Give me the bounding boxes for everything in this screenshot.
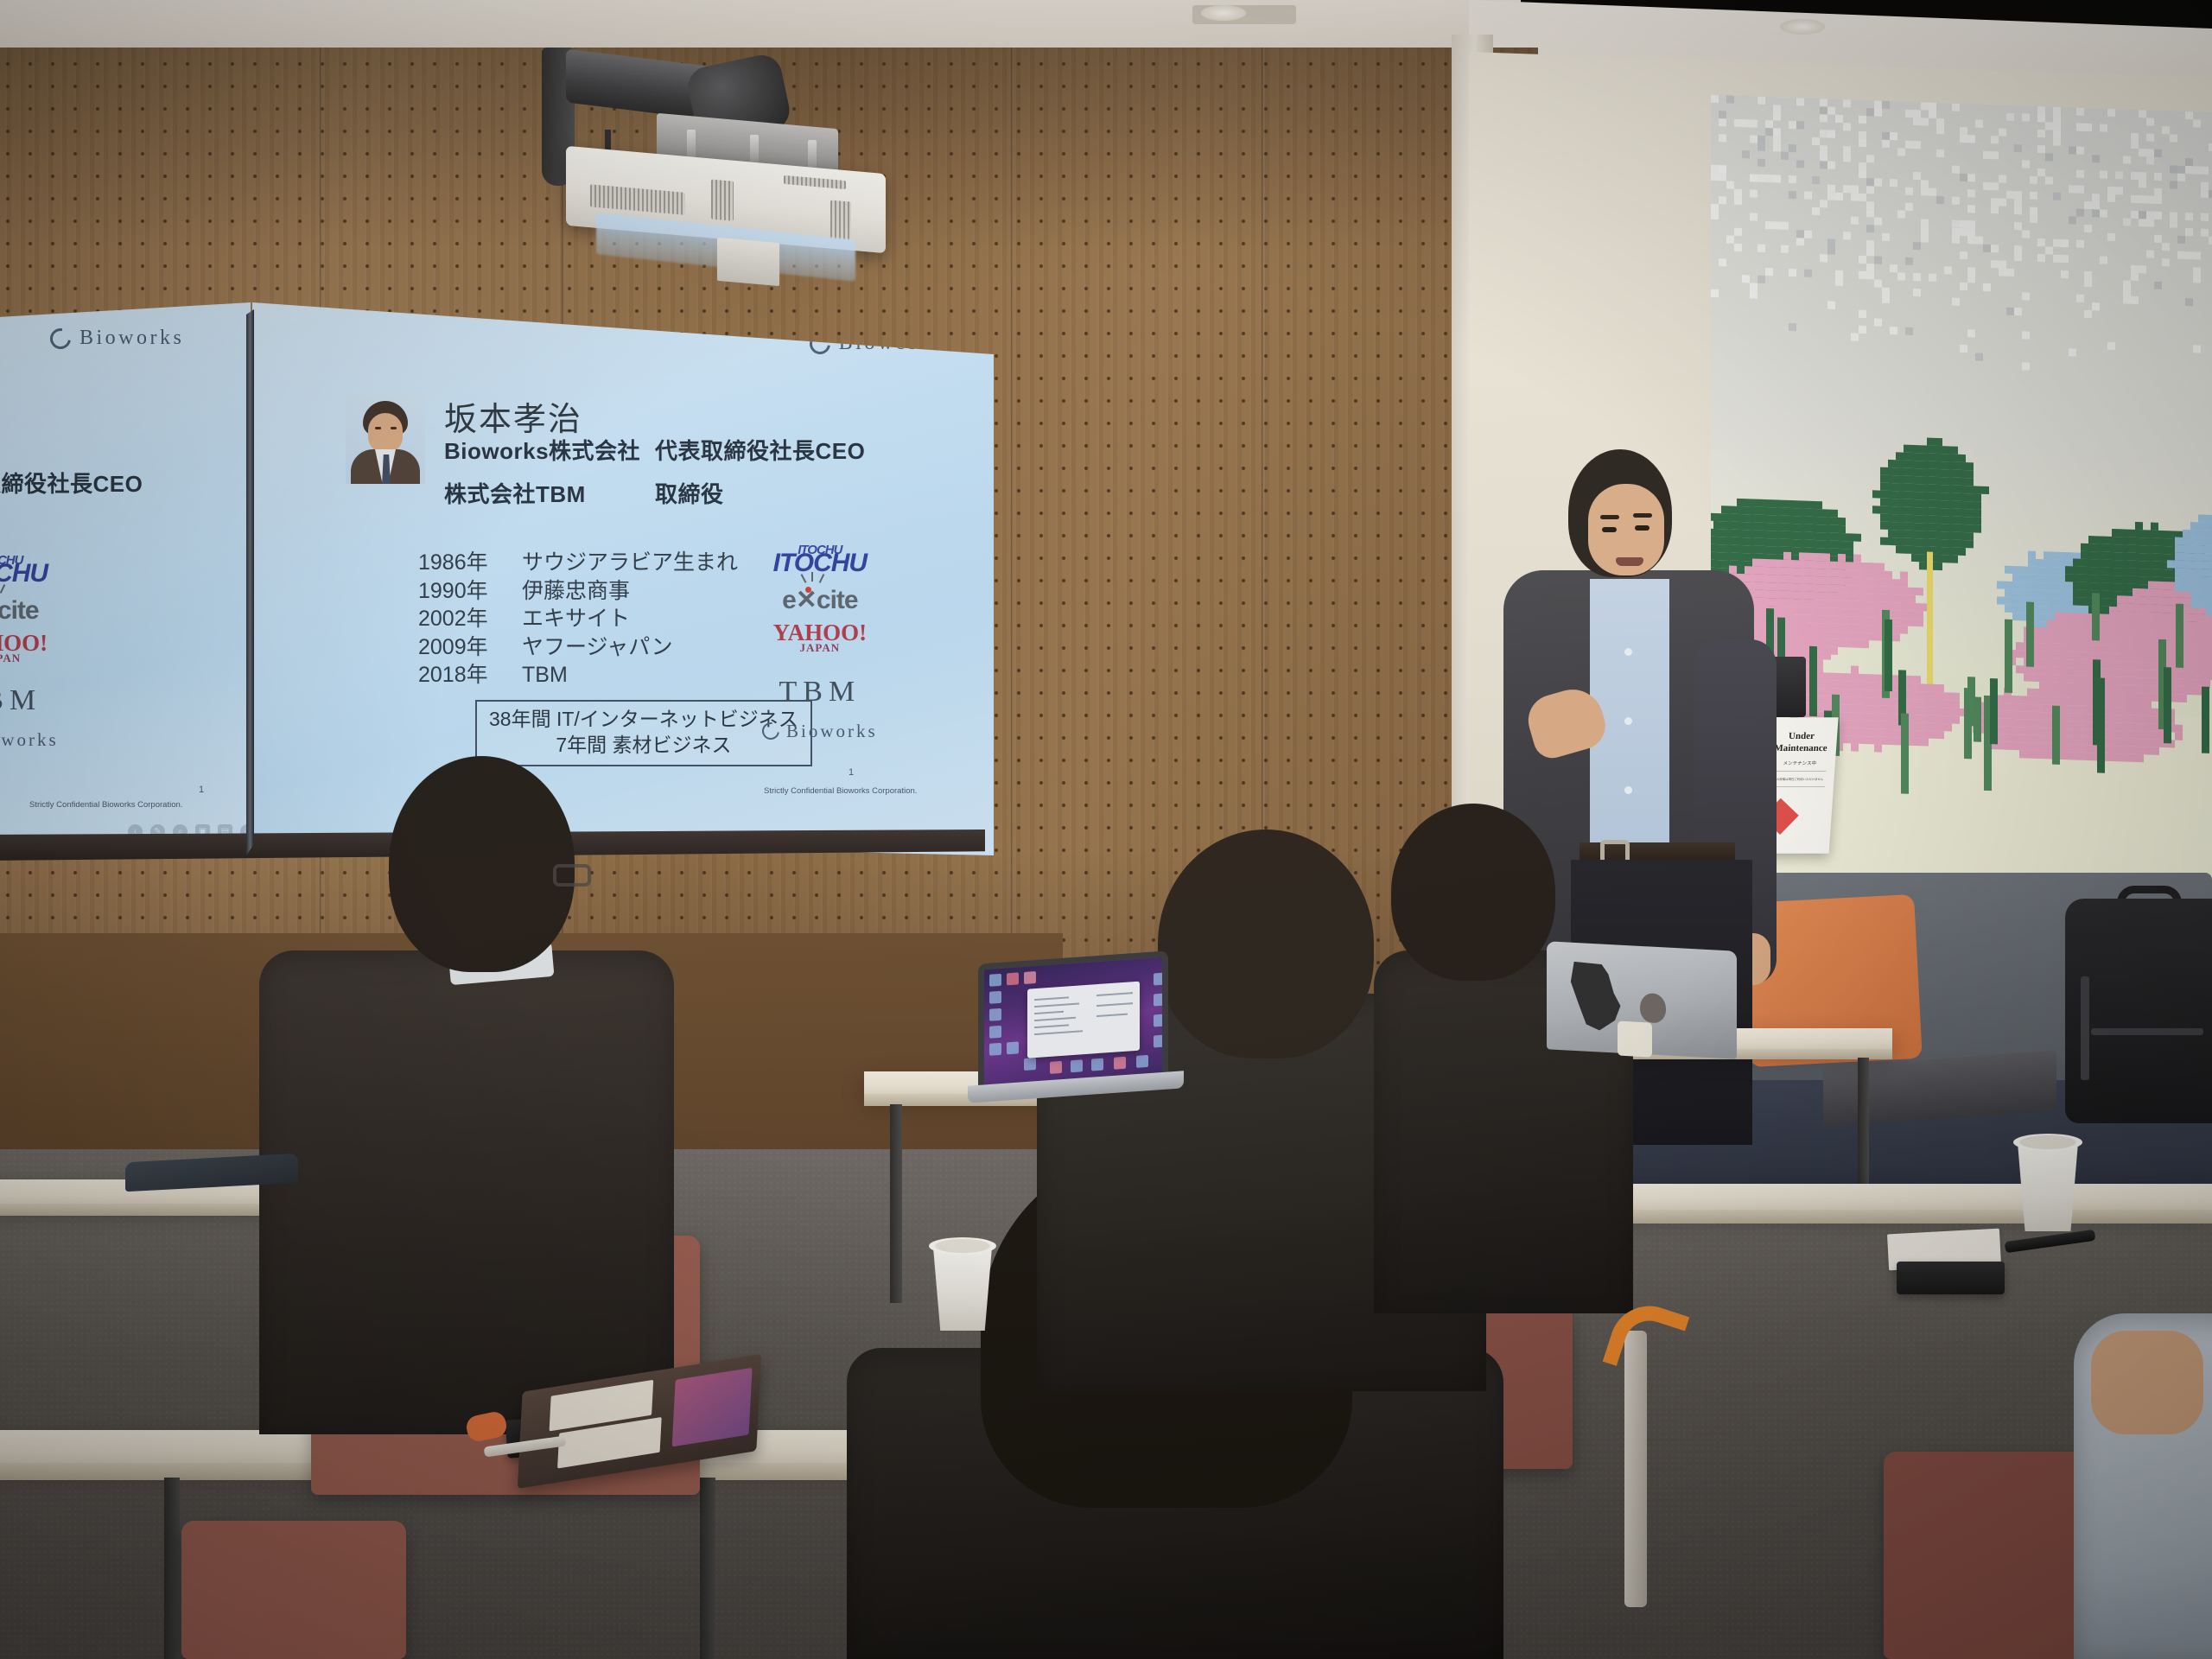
speaker-headshot [346,394,425,484]
timeline-event: ヤフージャパン [522,633,673,662]
bioworks-wordmark: Bioworks [786,721,878,742]
excite-logo: e✕cite [782,585,858,615]
timeline-row: 2018年 TBM [418,661,738,690]
bioworks-crescent-icon [759,719,783,743]
itochu-logo: ITOCHU ITOCHU [0,553,48,588]
macbook-closed-right[interactable] [1547,941,1737,1059]
logo-column-main: ITOCHU ITOCHU e✕cite YAHOO! JAPAN T [762,543,878,742]
slide-page-number-left: 1 [199,785,204,795]
presenter-mouth [1616,557,1643,566]
summary-line-1: 7年間 素材ビジネス [489,732,798,758]
eyeglasses-icon [553,864,591,887]
timeline-year: 2009年 [418,633,522,662]
projector-foot [717,238,779,286]
affiliation-org-0: Bioworks株式会社 [444,434,640,466]
maintenance-body: この設備は現在ご利用いただけません [1770,778,1827,782]
chair-front-left [181,1521,406,1659]
ceiling-light [1201,5,1246,21]
bioworks-logo: Bioworks [810,332,944,355]
bioworks-crescent-icon [46,324,74,353]
timeline-event: TBM [522,661,568,690]
bioworks-crescent-icon [805,329,834,358]
audience-hand [2091,1331,2203,1434]
timeline-event: 伊藤忠商事 [522,577,630,606]
timeline-year: 1990年 [418,577,522,606]
speaker-name: 坂本孝治 [444,392,582,440]
laptop-screen[interactable] [978,950,1168,1091]
role-ceo-partial: 代表取締役社長CEO [0,467,143,499]
timeline-event: サウジアラビア生まれ [522,549,738,577]
audience-head [389,756,575,972]
timeline-year: 2018年 [418,661,522,690]
paper-cup-rim [929,1237,996,1255]
california-sticker [1567,961,1623,1031]
timeline-event: エキサイト [522,605,630,633]
affiliation-org-1: 株式会社TBM [444,477,586,509]
tbm-logo: TBM [0,684,41,717]
apple-logo-icon [1640,993,1666,1024]
timeline-year: 1986年 [418,549,522,577]
timeline-year: 2002年 [418,605,522,633]
maintenance-title: Under Maintenance [1771,731,1830,754]
ceiling-light [1780,19,1825,35]
projector-bolt [687,130,696,159]
yahoo-japan-logo: YAHOO! JAPAN [0,632,48,665]
square-badge-sticker [1618,1021,1652,1058]
backpack [2065,899,2212,1123]
bioworks-wordmark: Bioworks [839,332,944,355]
projection-screen-main: Bioworks 坂本孝治 Bioworks株式会社 代表取締役社長CEO 株式… [252,302,994,855]
itochu-logo: ITOCHU ITOCHU [773,543,867,578]
timeline-row: 1986年 サウジアラビア生まれ [418,549,738,577]
screen-bezel [246,302,254,855]
bioworks-logo-small: Bioworks [0,729,59,751]
slide-footer-left: Strictly Confidential Bioworks Corporati… [29,800,182,810]
projector-bolt [808,140,817,169]
slide-main: Bioworks 坂本孝治 Bioworks株式会社 代表取締役社長CEO 株式… [252,302,994,855]
bioworks-wordmark: Bioworks [0,729,59,751]
maintenance-subtitle: メンテナンス中 [1770,760,1828,766]
projector-bolt [750,135,759,164]
black-notebook[interactable] [1897,1262,2005,1294]
paper-cup-rim [2013,1134,2082,1151]
affiliation-role-0: 代表取締役社長CEO [655,434,865,466]
audience-suit [259,950,674,1434]
bioworks-logo: Bioworks [50,327,184,350]
excite-logo: e✕cite [0,595,39,626]
bioworks-logo-small: Bioworks [762,721,878,742]
timeline-row: 2009年 ヤフージャパン [418,633,738,662]
slide-footer: Strictly Confidential Bioworks Corporati… [764,786,917,796]
timeline-row: 1990年 伊藤忠商事 [418,577,738,606]
slide-left-partial: Bioworks 代表取締役社長CEO ITOCHU ITOCHU e✕cite [0,302,251,855]
career-timeline: 1986年 サウジアラビア生まれ 1990年 伊藤忠商事 2002年 エキサイト… [418,549,738,690]
bioworks-wordmark: Bioworks [79,327,184,350]
slide-page-number: 1 [849,767,854,778]
tbm-logo: TBM [779,676,861,709]
audience-head [1158,829,1374,1058]
projection-screen-left: Bioworks 代表取締役社長CEO ITOCHU ITOCHU e✕cite [0,302,251,855]
summary-line-0: 38年間 IT/インターネットビジネス [489,706,798,732]
yahoo-japan-logo: YAHOO! JAPAN [773,622,868,655]
timeline-row: 2002年 エキサイト [418,605,738,633]
presentation-room-photo: Bioworks 代表取締役社長CEO ITOCHU ITOCHU e✕cite [0,0,2212,1659]
audience-head [1391,804,1555,981]
affiliation-role-1: 取締役 [655,477,724,509]
document-window[interactable] [1027,982,1140,1058]
logo-column-left: ITOCHU ITOCHU e✕cite YAHOO! JAPAN T [0,553,59,751]
